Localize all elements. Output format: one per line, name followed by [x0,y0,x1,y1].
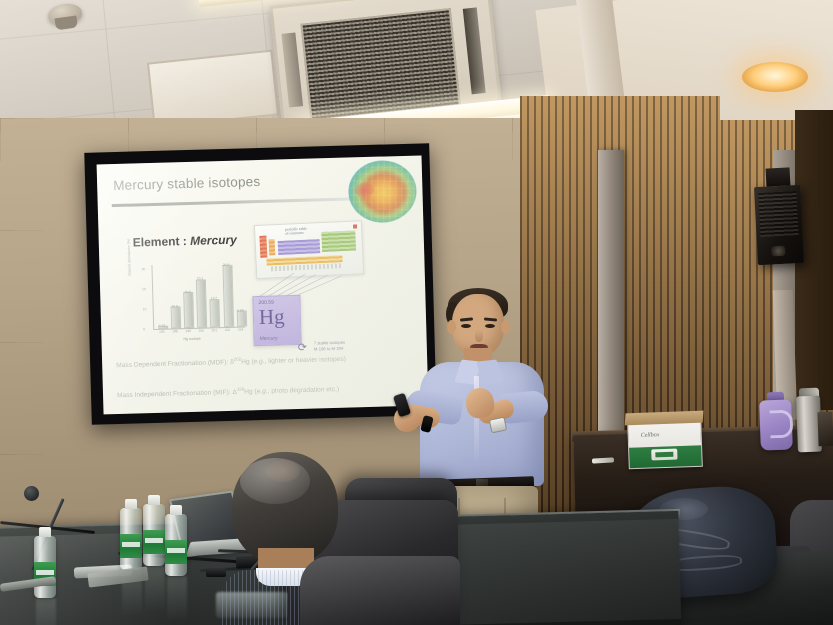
jug-handle [770,410,794,439]
chart-bar: 16.8 [183,264,193,328]
chart-x-tick: 200 [198,329,204,333]
mif-middle: Hg ( [244,388,257,395]
mdf-italic: e.g. [254,358,265,365]
chart-y-tick: 20 [142,287,146,291]
chart-bar-rect [210,299,221,328]
projection-screen-frame: Mercury stable isotopes Element : Mercur… [84,143,436,425]
mdf-prefix: Mass Dependent Fractionation (MDF): δ [116,359,234,369]
bottle-reflection [167,576,187,622]
ceiling-access-panel [147,50,279,129]
pt-block-alkali [259,236,267,258]
slide-body-line-1: Mass Dependent Fractionation (MDF): δ202… [116,352,396,371]
element-symbol: Hg [259,306,285,328]
mdf-superscript: 202 [234,357,241,362]
element-name: Mercury [259,336,277,343]
bottle-label [165,540,187,564]
isotope-abundance-chart: Natural abundance (%) 0102030 0.1510.016… [129,258,249,345]
tissue-box-label [651,449,677,461]
slide-title: Mercury stable isotopes [113,174,261,193]
chart-x-tick: 202 [225,328,231,332]
ac-vent-left [281,32,303,107]
presenter-ear-left [447,320,456,334]
bottle-label [143,530,165,554]
mercury-element-box: 200.59 Hg Mercury [252,295,301,346]
projected-slide: Mercury stable isotopes Element : Mercur… [97,155,429,414]
bottle-reflection [36,598,56,625]
bottle-reflection [145,566,165,612]
chart-y-tick: 10 [143,307,147,311]
speaker-bracket [766,167,791,186]
pt-block-transition [278,239,321,255]
water-bottle [143,504,165,566]
presenter-eye-left [461,324,471,328]
mdf-suffix: , lighter or heavier isotopes) [265,356,347,365]
chart-bar-rect [171,306,182,328]
isotope-note: 7 stable isotopes M-196 to M-204 [314,340,346,353]
conference-room-photo: Mercury stable isotopes Element : Mercur… [0,0,833,625]
leather-chair-armrest [300,556,460,625]
chart-x-tick: 204 [238,327,244,331]
slide-body-line-2: Mass Independent Fractionation (MIF): Δ1… [117,382,397,401]
element-label-prefix: Element : [133,234,191,250]
chart-bar-value: 29.8 [223,263,230,267]
tissue-box: Cellbox [627,419,703,470]
mif-italic: e.g. [257,388,268,395]
chart-bar-value: 0.15 [159,323,166,327]
element-label-emphasis: Mercury [190,233,237,248]
chart-bar: 0.15 [156,265,166,329]
presenter-eye-right [485,324,495,328]
water-bottle [34,536,56,598]
isotope-note-line2: M-196 to M-204 [314,346,344,352]
presenter-nose [475,329,483,342]
wall-speaker [754,185,804,265]
chart-y-tick: 0 [143,327,145,331]
chart-bar-value: 23.1 [197,277,204,281]
presenter-ear-right [501,320,510,334]
chart-x-tick: 198 [172,329,178,333]
mdf-middle: Hg ( [241,358,254,365]
chart-x-tick: 199 [185,329,191,333]
chart-bar-value: 10.0 [171,304,178,308]
mif-prefix: Mass Independent Fractionation (MIF): Δ [117,389,237,399]
chart-x-tick: 201 [212,328,218,332]
isotope-note-line1: 7 stable isotopes [314,340,346,346]
chart-bar: 13.2 [209,263,219,327]
water-bottle [120,508,142,570]
chart-y-ticks: 0102030 [129,258,247,261]
chart-plot-area: 0.1510.016.823.113.229.86.85 [153,262,247,329]
tissue-box-flap [625,411,704,426]
chart-bar: 10.0 [169,264,179,328]
chart-bar-rect [196,279,207,327]
chart-y-axis-label: Natural abundance (%) [126,222,132,276]
element-label: Element : Mercury [133,233,237,250]
chart-y-tick: 30 [141,267,145,271]
water-bottle [165,514,187,576]
chart-bar-rect [222,265,234,327]
ac-vent-right [463,7,486,94]
chart-bar: 6.85 [235,262,245,326]
attendee-scalp [266,460,300,482]
tissue-box-brand: Cellbox [641,432,660,439]
slide-title-rule [112,197,364,207]
pt-legend-dot [353,224,357,228]
mif-suffix: , photo degradation etc.) [268,386,340,395]
structural-column [598,150,624,450]
chart-bar-value: 6.85 [237,308,244,312]
bottle-label [120,534,142,558]
curved-arrow-icon: ⟳ [298,341,308,354]
chart-bar-value: 13.2 [210,296,217,300]
pt-block-nonmetals [321,231,356,253]
globe-heatmap-icon [348,160,418,224]
microphone-head [24,486,39,501]
chart-bar-rect [183,292,194,328]
pt-caption-line2: of elements [285,230,304,236]
chart-x-axis-label: Hg isotope [183,337,200,341]
pt-block-alkaline [269,239,276,255]
chart-bar-value: 16.8 [184,290,191,294]
picture-frame [817,412,833,447]
recessed-downlight [742,62,808,92]
chart-bar: 29.8 [222,263,232,327]
chart-x-tick: 196 [159,330,165,334]
chart-bar: 23.1 [196,264,206,328]
chart-bar-rect [236,311,246,327]
periodic-table-caption: periodic table of elements [285,227,307,237]
